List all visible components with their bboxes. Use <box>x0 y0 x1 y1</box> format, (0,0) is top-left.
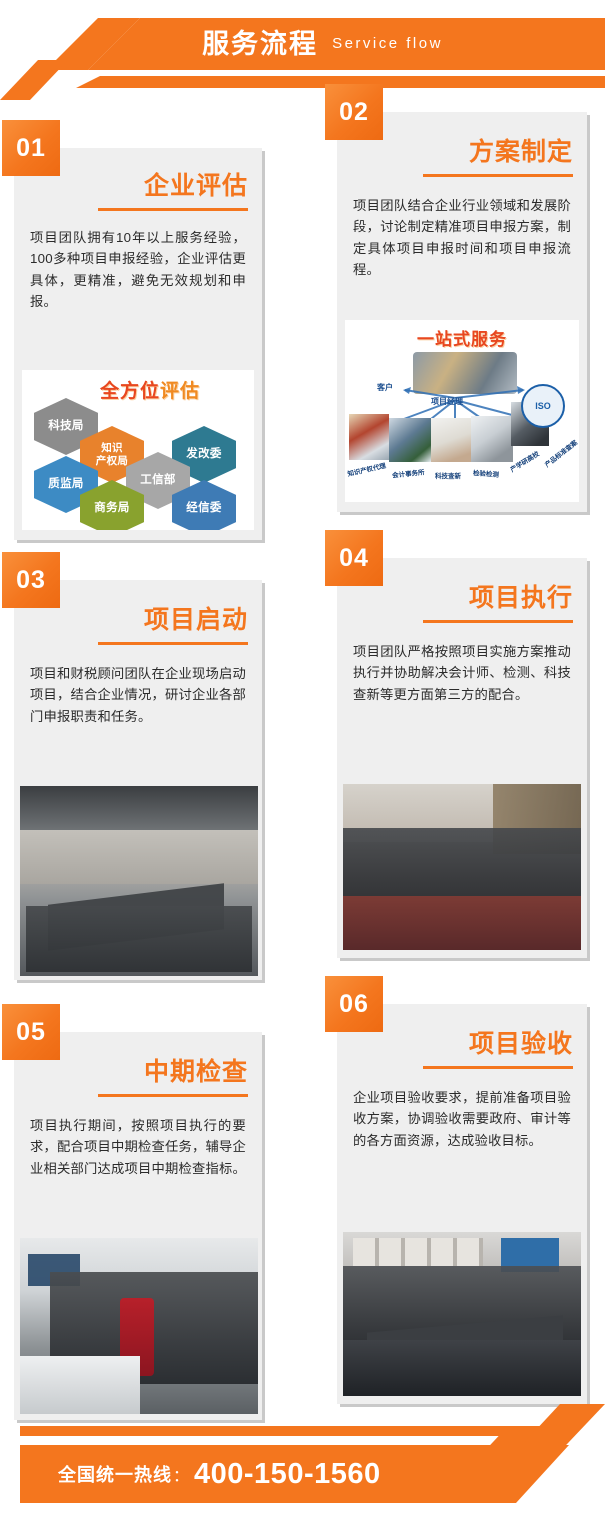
card-06-photo-framed-certificates <box>353 1238 483 1266</box>
service-flow-infographic: 服务流程 Service flow 01 企业评估 项目团队拥有10年以上服务经… <box>0 0 605 1538</box>
card-03-body: 项目和财税顾问团队在企业现场启动项目，结合企业情况，研讨企业各部门申报职责和任务… <box>14 645 262 728</box>
card-04-photo <box>343 784 581 950</box>
footer-hotline-group: 全国统一热线 ： 400-150-1560 <box>58 1445 381 1503</box>
hex-title-part1: 全方位 <box>100 381 160 402</box>
card-01: 01 企业评估 项目团队拥有10年以上服务经验，100多种项目申报经验，企业评估… <box>14 148 262 540</box>
card-02: 02 方案制定 项目团队结合企业行业领域和发展阶段，讨论制定精准项目申报方案，制… <box>337 112 587 512</box>
card-05-photo <box>20 1238 258 1414</box>
card-05-photo-counter <box>20 1356 140 1414</box>
card-01-number-badge: 01 <box>2 120 60 176</box>
card-03-number-badge: 03 <box>2 552 60 608</box>
card-06-photo <box>343 1232 581 1396</box>
card-01-body: 项目团队拥有10年以上服务经验，100多种项目申报经验，企业评估更具体，更精准，… <box>14 211 262 313</box>
footer-hotline-number[interactable]: 400-150-1560 <box>194 1458 381 1491</box>
page-title-en: Service flow <box>332 36 443 53</box>
card-03: 03 项目启动 项目和财税顾问团队在企业现场启动项目，结合企业情况，研讨企业各部… <box>14 580 262 980</box>
card-02-number-badge: 02 <box>325 84 383 140</box>
card-03-photo-wall <box>20 830 258 884</box>
page-header: 服务流程 Service flow <box>0 0 605 112</box>
hex-diagram: 全方位评估 科技局 知识产权局 发改委 质监局 工信部 商务局 经信委 <box>22 370 254 530</box>
card-04-photo-table <box>343 896 581 950</box>
card-02-body: 项目团队结合企业行业领域和发展阶段，讨论制定精准项目申报方案，制定具体项目申报时… <box>337 177 587 281</box>
card-05-number-badge: 05 <box>2 1004 60 1060</box>
footer-hotline-label: 全国统一热线 <box>58 1461 172 1487</box>
card-06-body: 企业项目验收要求，提前准备项目验收方案，协调验收需要政府、审计等的各方面资源，达… <box>337 1069 587 1152</box>
one-stop-leaf-photo-3 <box>431 418 471 462</box>
header-title-group: 服务流程 Service flow <box>0 18 605 70</box>
page-footer: 全国统一热线 ： 400-150-1560 <box>0 1426 605 1538</box>
card-04: 04 项目执行 项目团队严格按照项目实施方案推动执行并协助解决会计师、检测、科技… <box>337 558 587 958</box>
one-stop-iso-badge: ISO <box>521 384 565 428</box>
one-stop-node-xiangmujingli: 项目经理 <box>431 396 463 407</box>
card-06: 06 项目验收 企业项目验收要求，提前准备项目验收方案，协调验收需要政府、审计等… <box>337 1004 587 1404</box>
one-stop-leaf-photo-1 <box>349 414 389 460</box>
card-03-photo <box>20 786 258 976</box>
card-05-body: 项目执行期间，按照项目执行的要求，配合项目中期检查任务，辅导企业相关部门达成项目… <box>14 1097 262 1180</box>
hex-title-part2: 评估 <box>160 381 200 402</box>
card-01-title: 企业评估 <box>14 172 262 201</box>
card-03-photo-chairs <box>26 906 252 972</box>
one-stop-service-diagram: 一站式服务 <box>345 320 579 502</box>
card-04-title: 项目执行 <box>337 584 587 613</box>
one-stop-leaf-photo-2 <box>389 418 431 462</box>
one-stop-node-kehu: 客户 <box>377 382 393 393</box>
card-06-photo-chairs <box>343 1340 581 1396</box>
header-band-thin <box>0 76 605 88</box>
one-stop-leaf-label-3: 科技查新 <box>435 470 461 480</box>
footer-band-thin <box>20 1426 605 1436</box>
card-06-number-badge: 06 <box>325 976 383 1032</box>
card-04-photo-people <box>343 828 581 900</box>
card-04-body: 项目团队严格按照项目实施方案推动执行并协助解决会计师、检测、科技查新等更方面第三… <box>337 623 587 706</box>
card-05: 05 中期检查 项目执行期间，按照项目执行的要求，配合项目中期检查任务，辅导企业… <box>14 1032 262 1420</box>
one-stop-leaf-photo-4 <box>471 416 513 462</box>
card-03-title: 项目启动 <box>14 606 262 635</box>
footer-hotline-colon: ： <box>173 1462 189 1486</box>
one-stop-leaf-label-4: 检验检测 <box>473 467 500 479</box>
card-05-title: 中期检查 <box>14 1058 262 1087</box>
card-03-photo-ceiling <box>20 786 258 832</box>
hex-diagram-title: 全方位评估 <box>100 376 200 403</box>
card-06-title: 项目验收 <box>337 1030 587 1059</box>
page-title-cn: 服务流程 <box>202 31 318 58</box>
card-04-number-badge: 04 <box>325 530 383 586</box>
card-02-title: 方案制定 <box>337 138 587 167</box>
